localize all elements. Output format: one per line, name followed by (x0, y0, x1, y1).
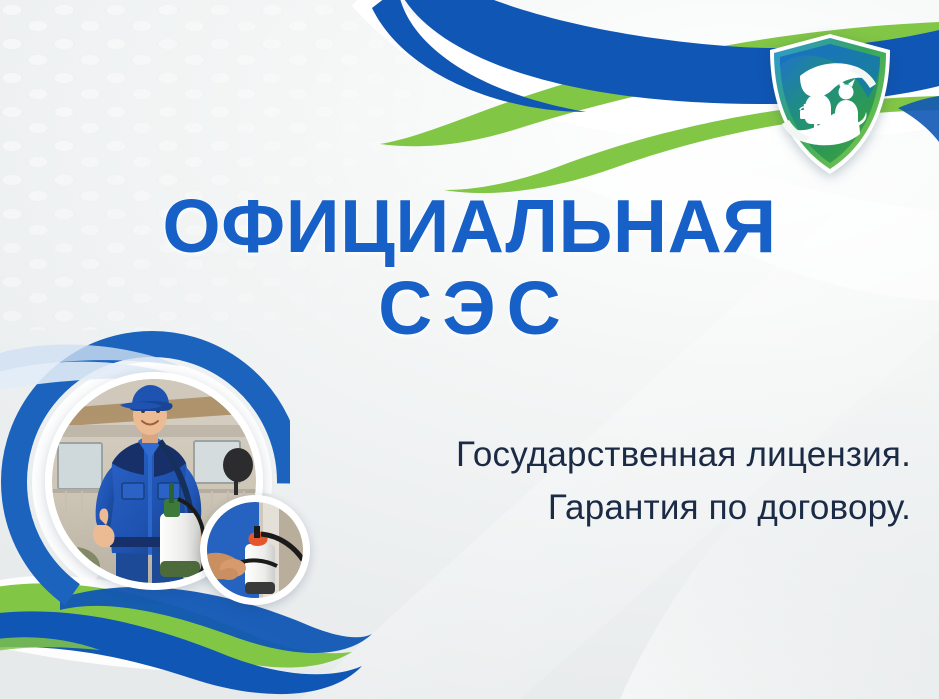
subtitle-block: Государственная лицензия. Гарантия по до… (251, 428, 911, 534)
shield-hands-child-pet-logo[interactable] (760, 30, 900, 178)
photo-sprayer-closeup (200, 495, 310, 605)
poster-canvas: ОФИЦИАЛЬНАЯ СЭС Государственная лицензия… (0, 0, 939, 699)
subtitle-line-1: Государственная лицензия. (251, 428, 911, 481)
photo-sprayer-image (207, 502, 303, 598)
title-line-1: ОФИЦИАЛЬНАЯ (0, 186, 939, 266)
subtitle-line-2: Гарантия по договору. (251, 481, 911, 534)
title-line-2: СЭС (0, 266, 939, 350)
honeycomb-texture (0, 0, 560, 330)
page-title: ОФИЦИАЛЬНАЯ СЭС (0, 186, 939, 350)
